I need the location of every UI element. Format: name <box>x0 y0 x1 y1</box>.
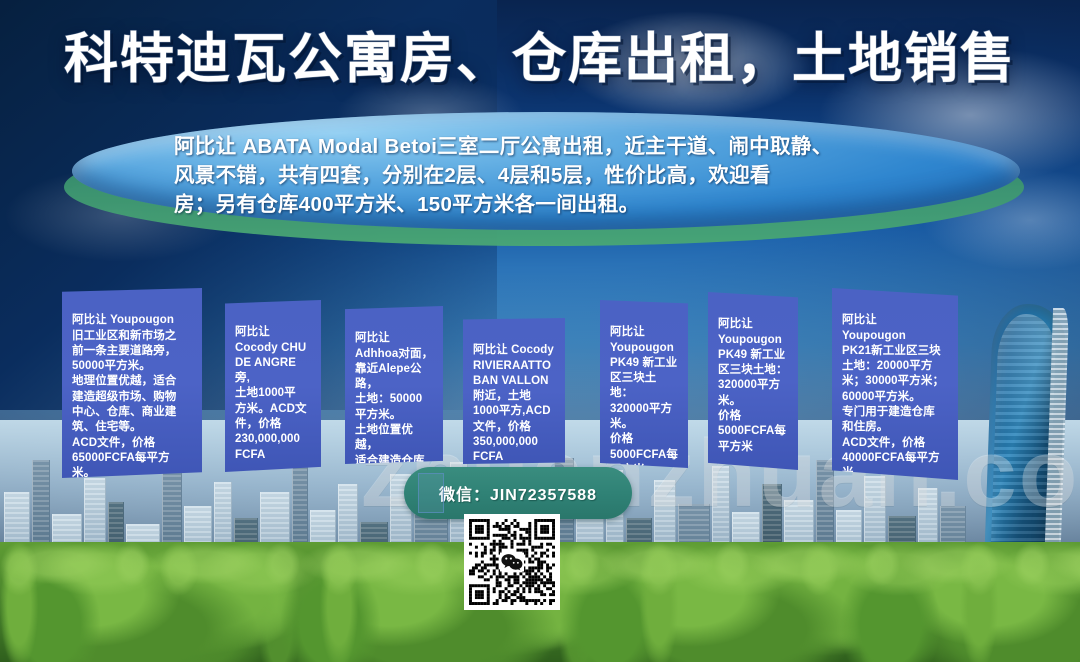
decorative-notch <box>418 473 444 513</box>
listing-card-text: 阿比让 Youpougon PK21新工业区三块 土地：20000平方 米；30… <box>842 313 949 480</box>
advertisement-poster: zhuanzhuan.com 科特迪瓦公寓房、仓库出租，土地销售 阿比让 ABA… <box>0 0 1080 662</box>
listing-card-text: 阿比让 Youpougon PK49 新工业 区三块土地： 320000平方 米… <box>610 325 679 468</box>
listing-card-text: 阿比让 Cocody RIVIERAATTO BAN VALLON 附近，土地 … <box>473 343 556 464</box>
wechat-contact-pill[interactable]: 微信：JIN72357588 <box>404 467 632 519</box>
listing-card-text: 阿比让 Youpougon PK49 新工业 区三块土地： 320000平方 米… <box>718 317 789 455</box>
wechat-qr-code[interactable] <box>464 514 560 610</box>
listing-card-text: 阿比让 Adhhoa对面， 靠近Alepe公路， 土地：50000 平方米。 土… <box>355 331 434 464</box>
listing-card[interactable]: 阿比让 Youpougon PK49 新工业 区三块土地： 320000平方 米… <box>600 300 688 468</box>
listing-card[interactable]: 阿比让 Cocody CHU DE ANGRE 旁, 土地1000平 方米。AC… <box>225 300 321 472</box>
listing-card[interactable]: 阿比让 Adhhoa对面， 靠近Alepe公路， 土地：50000 平方米。 土… <box>345 306 443 464</box>
listing-card-text: 阿比让 Cocody CHU DE ANGRE 旁, 土地1000平 方米。AC… <box>235 325 312 463</box>
qr-pattern <box>469 519 555 605</box>
wechat-logo-icon <box>500 553 524 572</box>
listing-card-text: 阿比让 Youpougon 旧工业区和新市场之 前一条主要道路旁， 50000平… <box>72 313 193 478</box>
wechat-id-label: 微信：JIN72357588 <box>439 481 597 505</box>
listing-card[interactable]: 阿比让 Youpougon PK49 新工业 区三块土地： 320000平方 米… <box>708 292 798 470</box>
listing-card[interactable]: 阿比让 Youpougon PK21新工业区三块 土地：20000平方 米；30… <box>832 288 958 480</box>
listing-card[interactable]: 阿比让 Cocody RIVIERAATTO BAN VALLON 附近，土地 … <box>463 318 565 464</box>
listing-card[interactable]: 阿比让 Youpougon 旧工业区和新市场之 前一条主要道路旁， 50000平… <box>62 288 202 478</box>
